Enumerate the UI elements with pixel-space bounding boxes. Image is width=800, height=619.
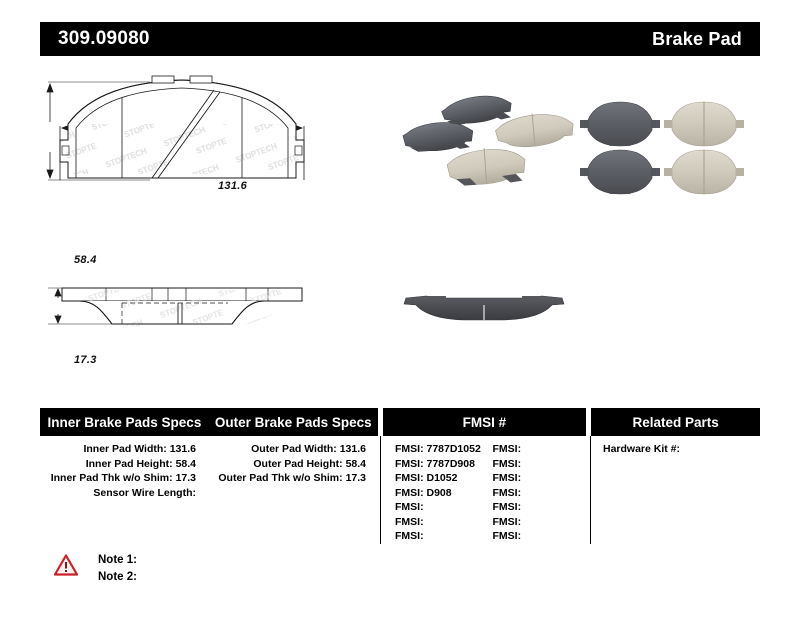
specs-table-header-row: Inner Brake Pads Specs Outer Brake Pads … <box>40 408 760 436</box>
spec-row: Outer Pad Height: 58.4 <box>210 457 380 472</box>
spec-row: Inner Pad Width: 131.6 <box>40 442 210 457</box>
spec-value: 131.6 <box>170 443 196 455</box>
spec-value: 58.4 <box>346 458 366 470</box>
spec-row: Outer Pad Width: 131.6 <box>210 442 380 457</box>
pad-face-outline <box>60 76 304 180</box>
spec-value: 58.4 <box>176 458 196 470</box>
fmsi-row: FMSI: 7787D1052 <box>395 442 493 457</box>
column-fmsi: FMSI: 7787D1052 FMSI: 7787D908 FMSI: D10… <box>381 436 590 544</box>
fmsi-row: FMSI: D1052 <box>395 471 493 486</box>
drawing-area: STOPTECH STOPTECH <box>0 62 800 392</box>
notes-text-block: Note 1: Note 2: <box>98 552 137 586</box>
fmsi-row: FMSI: <box>493 529 591 544</box>
spec-row: Outer Pad Thk w/o Shim: 17.3 <box>210 471 380 486</box>
fmsi-row: FMSI: <box>395 529 493 544</box>
spec-label: Outer Pad Thk w/o Shim: <box>218 472 342 484</box>
fmsi-row: FMSI: <box>395 500 493 515</box>
part-number: 309.09080 <box>58 28 150 50</box>
spec-label: Outer Pad Height: <box>253 458 342 470</box>
spec-value: 131.6 <box>340 443 366 455</box>
fmsi-column-right: FMSI: FMSI: FMSI: FMSI: FMSI: FMSI: FMSI… <box>493 442 591 544</box>
spec-value: 17.3 <box>346 472 366 484</box>
spec-sheet-page: 309.09080 Brake Pad STOPTECH STOPTECH <box>0 0 800 619</box>
fmsi-row: FMSI: D908 <box>395 486 493 501</box>
specs-table: Inner Brake Pads Specs Outer Brake Pads … <box>40 408 760 544</box>
dimension-label-width: 131.6 <box>218 180 247 192</box>
related-parts-row: Hardware Kit #: <box>591 442 760 457</box>
spec-label: Inner Pad Height: <box>86 458 173 470</box>
dimension-label-thickness: 17.3 <box>74 354 97 366</box>
fmsi-row: FMSI: <box>493 442 591 457</box>
column-header-inner-specs: Inner Brake Pads Specs <box>40 408 209 436</box>
fmsi-row: FMSI: <box>493 515 591 530</box>
product-photo-edge <box>396 280 576 330</box>
spec-label: Inner Pad Width: <box>83 443 166 455</box>
warning-triangle-icon <box>54 554 78 576</box>
column-related-parts: Hardware Kit #: <box>591 436 760 544</box>
fmsi-row: FMSI: <box>493 457 591 472</box>
header-bar: 309.09080 Brake Pad <box>40 22 760 56</box>
fmsi-row: FMSI: <box>493 500 591 515</box>
spec-row: Inner Pad Height: 58.4 <box>40 457 210 472</box>
product-photo-angled <box>396 90 576 202</box>
fmsi-row: FMSI: 7787D908 <box>395 457 493 472</box>
product-photo-flat-grid <box>572 90 752 202</box>
fmsi-row: FMSI: <box>493 486 591 501</box>
spec-label: Inner Pad Thk w/o Shim: <box>51 472 173 484</box>
column-header-fmsi: FMSI # <box>383 408 587 436</box>
column-inner-specs: Inner Pad Width: 131.6 Inner Pad Height:… <box>40 436 210 544</box>
notes-section: Note 1: Note 2: <box>54 552 137 586</box>
spec-row: Sensor Wire Length: <box>40 486 210 501</box>
technical-drawing: STOPTECH STOPTECH <box>0 62 400 392</box>
pad-side-outline <box>62 288 302 328</box>
spec-row: Inner Pad Thk w/o Shim: 17.3 <box>40 471 210 486</box>
column-outer-specs: Outer Pad Width: 131.6 Outer Pad Height:… <box>210 436 380 544</box>
spec-value: 17.3 <box>176 472 196 484</box>
column-header-outer-specs: Outer Brake Pads Specs <box>209 408 378 436</box>
dimension-label-height: 58.4 <box>74 254 97 266</box>
note-line-1: Note 1: <box>98 552 137 569</box>
spec-label: Outer Pad Width: <box>251 443 337 455</box>
fmsi-row: FMSI: <box>493 471 591 486</box>
fmsi-row: FMSI: <box>395 515 493 530</box>
spec-label: Sensor Wire Length: <box>93 487 196 499</box>
column-header-related-parts: Related Parts <box>591 408 760 436</box>
specs-table-body: Inner Pad Width: 131.6 Inner Pad Height:… <box>40 436 760 544</box>
page-title: Brake Pad <box>652 29 742 50</box>
note-line-2: Note 2: <box>98 569 137 586</box>
fmsi-column-left: FMSI: 7787D1052 FMSI: 7787D908 FMSI: D10… <box>395 442 493 544</box>
